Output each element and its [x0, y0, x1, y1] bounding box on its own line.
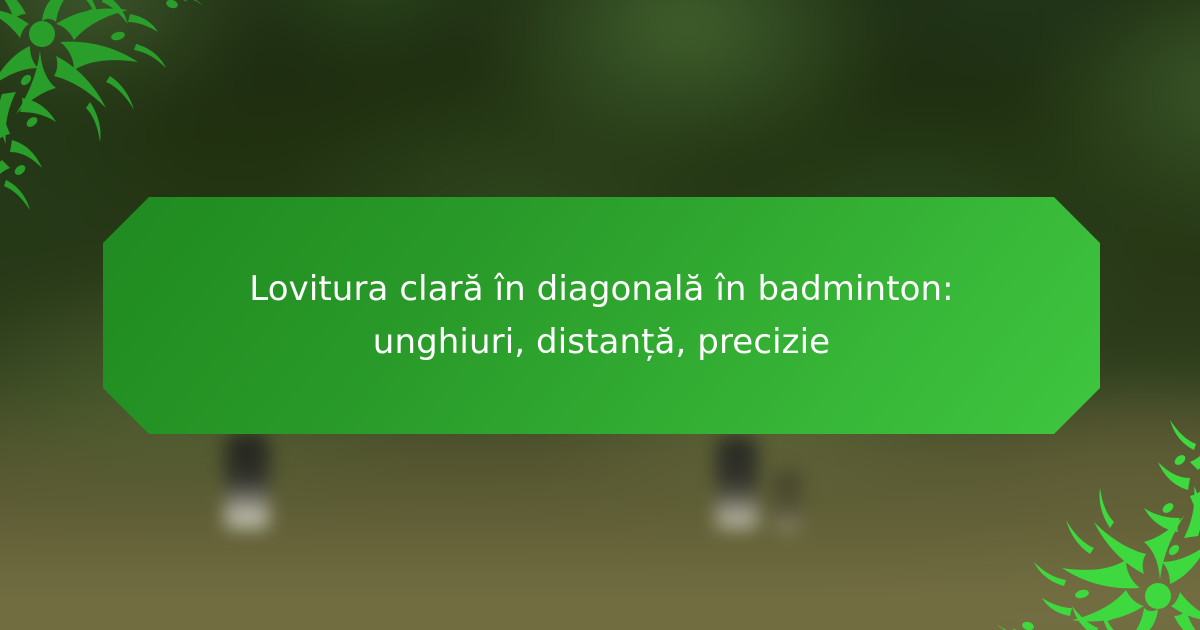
social-card: Lovitura clară în diagonală în badminton…	[0, 0, 1200, 630]
background-player-silhouette	[772, 470, 802, 532]
background-player-silhouette	[716, 436, 758, 528]
title-banner: Lovitura clară în diagonală în badminton…	[103, 197, 1100, 434]
background-player-silhouette	[225, 432, 269, 528]
page-title: Lovitura clară în diagonală în badminton…	[222, 263, 982, 369]
